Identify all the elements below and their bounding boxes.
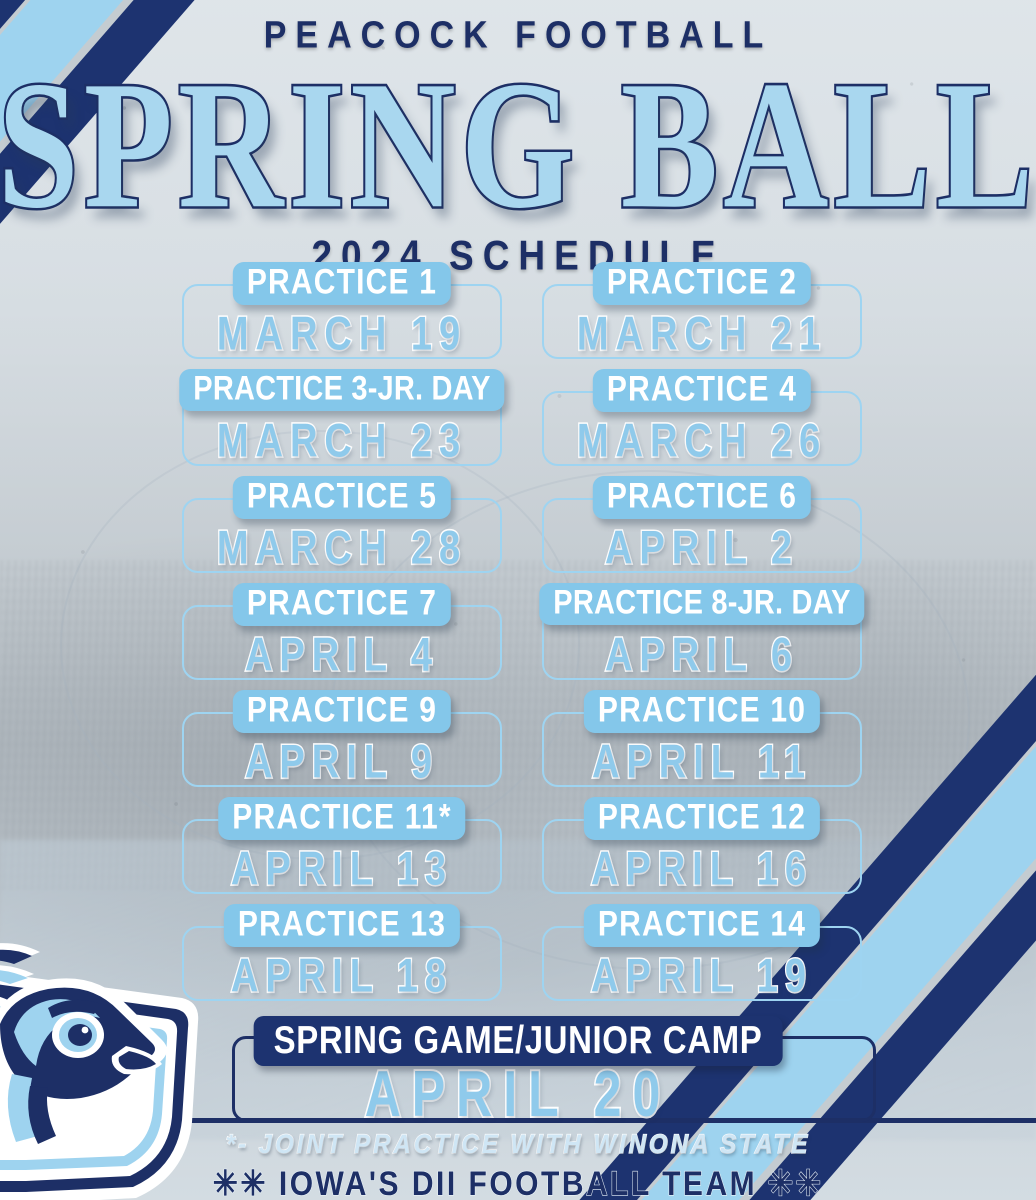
practice-label: PRACTICE 3-JR. DAY	[193, 370, 490, 409]
page-title: SPRING BALL	[0, 59, 1036, 231]
practice-date: MARCH 21	[532, 308, 872, 362]
practice-date: APRIL 9	[172, 736, 512, 790]
practice-label-pill: PRACTICE 5	[233, 476, 451, 519]
practice-date: MARCH 23	[172, 415, 512, 469]
schedule-cell: PRACTICE 7APRIL 4	[172, 583, 512, 686]
spring-game-pill: SPRING GAME/JUNIOR CAMP	[254, 1016, 783, 1066]
practice-date: APRIL 19	[532, 950, 872, 1004]
practice-label-pill: PRACTICE 3-JR. DAY	[179, 369, 504, 411]
schedule-cell: PRACTICE 5MARCH 28	[172, 476, 512, 579]
practice-label: PRACTICE 9	[247, 691, 437, 731]
practice-date: MARCH 19	[172, 308, 512, 362]
practice-label-pill: PRACTICE 7	[233, 583, 451, 626]
practice-date: APRIL 4	[172, 629, 512, 683]
practice-label-pill: PRACTICE 1	[233, 262, 451, 305]
spring-ball-schedule-poster: PEACOCK FOOTBALL SPRING BALL 2024 SCHEDU…	[0, 0, 1036, 1200]
practice-label-pill: PRACTICE 14	[584, 904, 820, 947]
practice-date: MARCH 26	[532, 415, 872, 469]
schedule-cell: PRACTICE 14APRIL 19	[532, 904, 872, 1007]
practice-label-pill: PRACTICE 2	[593, 262, 811, 305]
poster-header: PEACOCK FOOTBALL SPRING BALL 2024 SCHEDU…	[0, 16, 1036, 277]
spring-game-label: SPRING GAME/JUNIOR CAMP	[274, 1018, 763, 1063]
practice-label-pill: PRACTICE 4	[593, 369, 811, 412]
practice-label: PRACTICE 13	[238, 905, 446, 945]
practice-label-pill: PRACTICE 12	[584, 797, 820, 840]
practice-label-pill: PRACTICE 11*	[218, 797, 465, 840]
practice-date: MARCH 28	[172, 522, 512, 576]
practice-date: APRIL 16	[532, 843, 872, 897]
practice-label: PRACTICE 11*	[232, 798, 451, 838]
schedule-cell: PRACTICE 8-JR. DAYAPRIL 6	[532, 583, 872, 686]
schedule-cell: PRACTICE 4MARCH 26	[532, 369, 872, 472]
practice-label: PRACTICE 5	[247, 477, 437, 517]
schedule-cell: PRACTICE 1MARCH 19	[172, 262, 512, 365]
schedule-cell: PRACTICE 6APRIL 2	[532, 476, 872, 579]
schedule-cell: PRACTICE 3-JR. DAYMARCH 23	[172, 369, 512, 472]
schedule-cell: PRACTICE 12APRIL 16	[532, 797, 872, 900]
practice-label-pill: PRACTICE 8-JR. DAY	[539, 583, 864, 625]
schedule-cell: PRACTICE 11*APRIL 13	[172, 797, 512, 900]
practice-label: PRACTICE 6	[607, 477, 797, 517]
peacock-shield-logo	[0, 936, 254, 1200]
schedule-cell: PRACTICE 2MARCH 21	[532, 262, 872, 365]
practice-label: PRACTICE 2	[607, 263, 797, 303]
practice-date: APRIL 2	[532, 522, 872, 576]
schedule-grid: PRACTICE 1MARCH 19PRACTICE 2MARCH 21PRAC…	[172, 262, 872, 1007]
practice-label-pill: PRACTICE 13	[224, 904, 460, 947]
practice-label-pill: PRACTICE 6	[593, 476, 811, 519]
practice-label-pill: PRACTICE 9	[233, 690, 451, 733]
practice-label-pill: PRACTICE 10	[584, 690, 820, 733]
practice-label: PRACTICE 7	[247, 584, 437, 624]
practice-label: PRACTICE 12	[598, 798, 806, 838]
practice-date: APRIL 11	[532, 736, 872, 790]
schedule-cell: PRACTICE 10APRIL 11	[532, 690, 872, 793]
practice-date: APRIL 6	[532, 629, 872, 683]
practice-label: PRACTICE 14	[598, 905, 806, 945]
practice-label: PRACTICE 4	[607, 370, 797, 410]
schedule-cell: PRACTICE 9APRIL 9	[172, 690, 512, 793]
practice-date: APRIL 13	[172, 843, 512, 897]
practice-label: PRACTICE 1	[247, 263, 437, 303]
practice-label: PRACTICE 8-JR. DAY	[553, 584, 850, 623]
practice-label: PRACTICE 10	[598, 691, 806, 731]
